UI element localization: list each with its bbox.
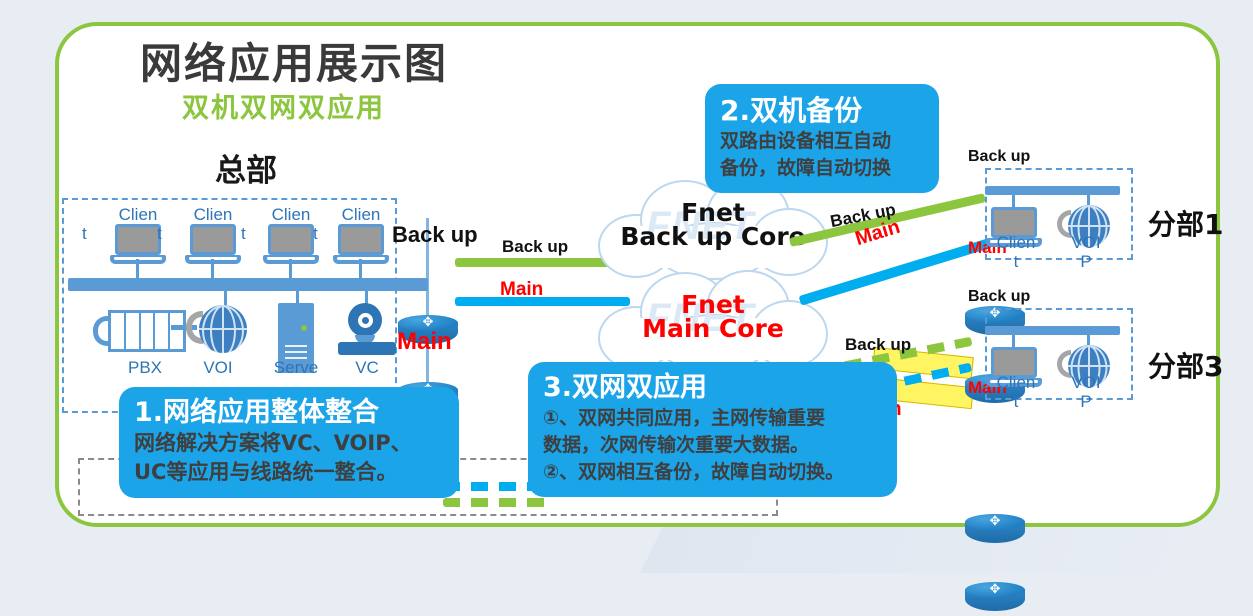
branch-3-router-backup[interactable]: ✥: [965, 514, 1025, 548]
branch-1-client-label: Clien: [988, 233, 1044, 252]
core-cloud-main: FNET Fnet Main Core: [598, 270, 828, 370]
callout-1-heading: 1.网络应用整体整合: [134, 396, 444, 429]
hq-client-4-stub: [359, 259, 362, 279]
globe-icon: [199, 305, 247, 353]
headquarters-title: 总部: [215, 145, 277, 190]
callout-1-body-line-1: 网络解决方案将VC、VOIP、: [134, 429, 444, 458]
branch-3-client-label2: t: [988, 392, 1044, 411]
hq-router-backup-label: Back up: [392, 222, 478, 248]
hq-device-pbx[interactable]: [93, 310, 186, 352]
hq-device-voip-label: VOI: [183, 358, 253, 377]
core-cloud-main-line2: Main Core: [598, 316, 828, 341]
branch-1-voip-label: VOI: [1058, 233, 1114, 252]
callout-3-body-line-3: ②、双网相互备份，故障自动切换。: [543, 459, 882, 486]
core-cloud-backup: FNET Fnet Back up Core: [598, 178, 828, 278]
hq-router-main-label: Main: [397, 328, 452, 356]
link-hq-backup: [455, 258, 620, 267]
hq-client-3-label: Clien: [259, 205, 323, 224]
camera-icon: [348, 303, 382, 337]
callout-2[interactable]: 2.双机备份 双路由设备相互自动 备份，故障自动切换: [705, 84, 939, 193]
branch-1-bus: [985, 186, 1120, 195]
branch-3-router-main[interactable]: ✥: [965, 582, 1025, 616]
hq-client-1-stub: [136, 259, 139, 279]
link-b3-backup-label: Back up: [845, 335, 911, 355]
branch-3-bus: [985, 326, 1120, 335]
branch-1-client-label2: t: [988, 252, 1044, 271]
phone-handset-icon: [93, 316, 108, 346]
hq-client-4-label: Clien: [329, 205, 393, 224]
hq-device-vc-label: VC: [332, 358, 402, 377]
callout-3-body-line-2: 数据，次网传输次重要大数据。: [543, 432, 882, 459]
branch-3-voip-label2: P: [1058, 392, 1114, 411]
callout-3-body-line-1: ①、双网共同应用，主网传输重要: [543, 405, 882, 432]
callout-1[interactable]: 1.网络应用整体整合 网络解决方案将VC、VOIP、 UC等应用与线路统一整合。: [119, 387, 459, 498]
callout-3[interactable]: 3.双网双应用 ①、双网共同应用，主网传输重要 数据，次网传输次重要大数据。 ②…: [528, 362, 897, 497]
hq-client-2-stub: [211, 259, 214, 279]
hq-client-3-stub: [289, 259, 292, 279]
link-hq-main-label: Main: [500, 279, 543, 301]
diagram-canvas: 网络应用展示图 双机双网双应用 总部 Clien t Clien t Clien…: [0, 0, 1253, 573]
branch-3-client-label: Clien: [988, 373, 1044, 392]
callout-1-body-line-2: UC等应用与线路统一整合。: [134, 458, 444, 487]
branch-1-router-backup-label: Back up: [968, 148, 1030, 166]
callout-3-heading: 3.双网双应用: [543, 371, 882, 405]
branch-3-voip-label: VOI: [1058, 373, 1114, 392]
hq-client-2-label: Clien: [181, 205, 245, 224]
callout-2-body-line-2: 备份，故障自动切换: [720, 155, 924, 182]
hq-device-pbx-label: PBX: [110, 358, 180, 377]
hq-device-server-label: Serve: [261, 358, 331, 377]
hq-client-1-label: Clien: [106, 205, 170, 224]
branch-1-voip-label2: P: [1058, 252, 1114, 271]
page-title: 网络应用展示图: [140, 30, 448, 91]
branch-1-title: 分部1: [1148, 203, 1223, 243]
link-hq-backup-label: Back up: [502, 237, 568, 257]
callout-2-heading: 2.双机备份: [720, 93, 924, 128]
pbx-rack-icon: [108, 310, 186, 352]
headquarters-bus: [68, 278, 428, 291]
branch-3-title: 分部3: [1148, 345, 1223, 385]
page-subtitle: 双机双网双应用: [182, 86, 385, 125]
legend-dash-green: [443, 498, 551, 507]
callout-2-body-line-1: 双路由设备相互自动: [720, 128, 924, 155]
branch-3-router-backup-label: Back up: [968, 288, 1030, 306]
